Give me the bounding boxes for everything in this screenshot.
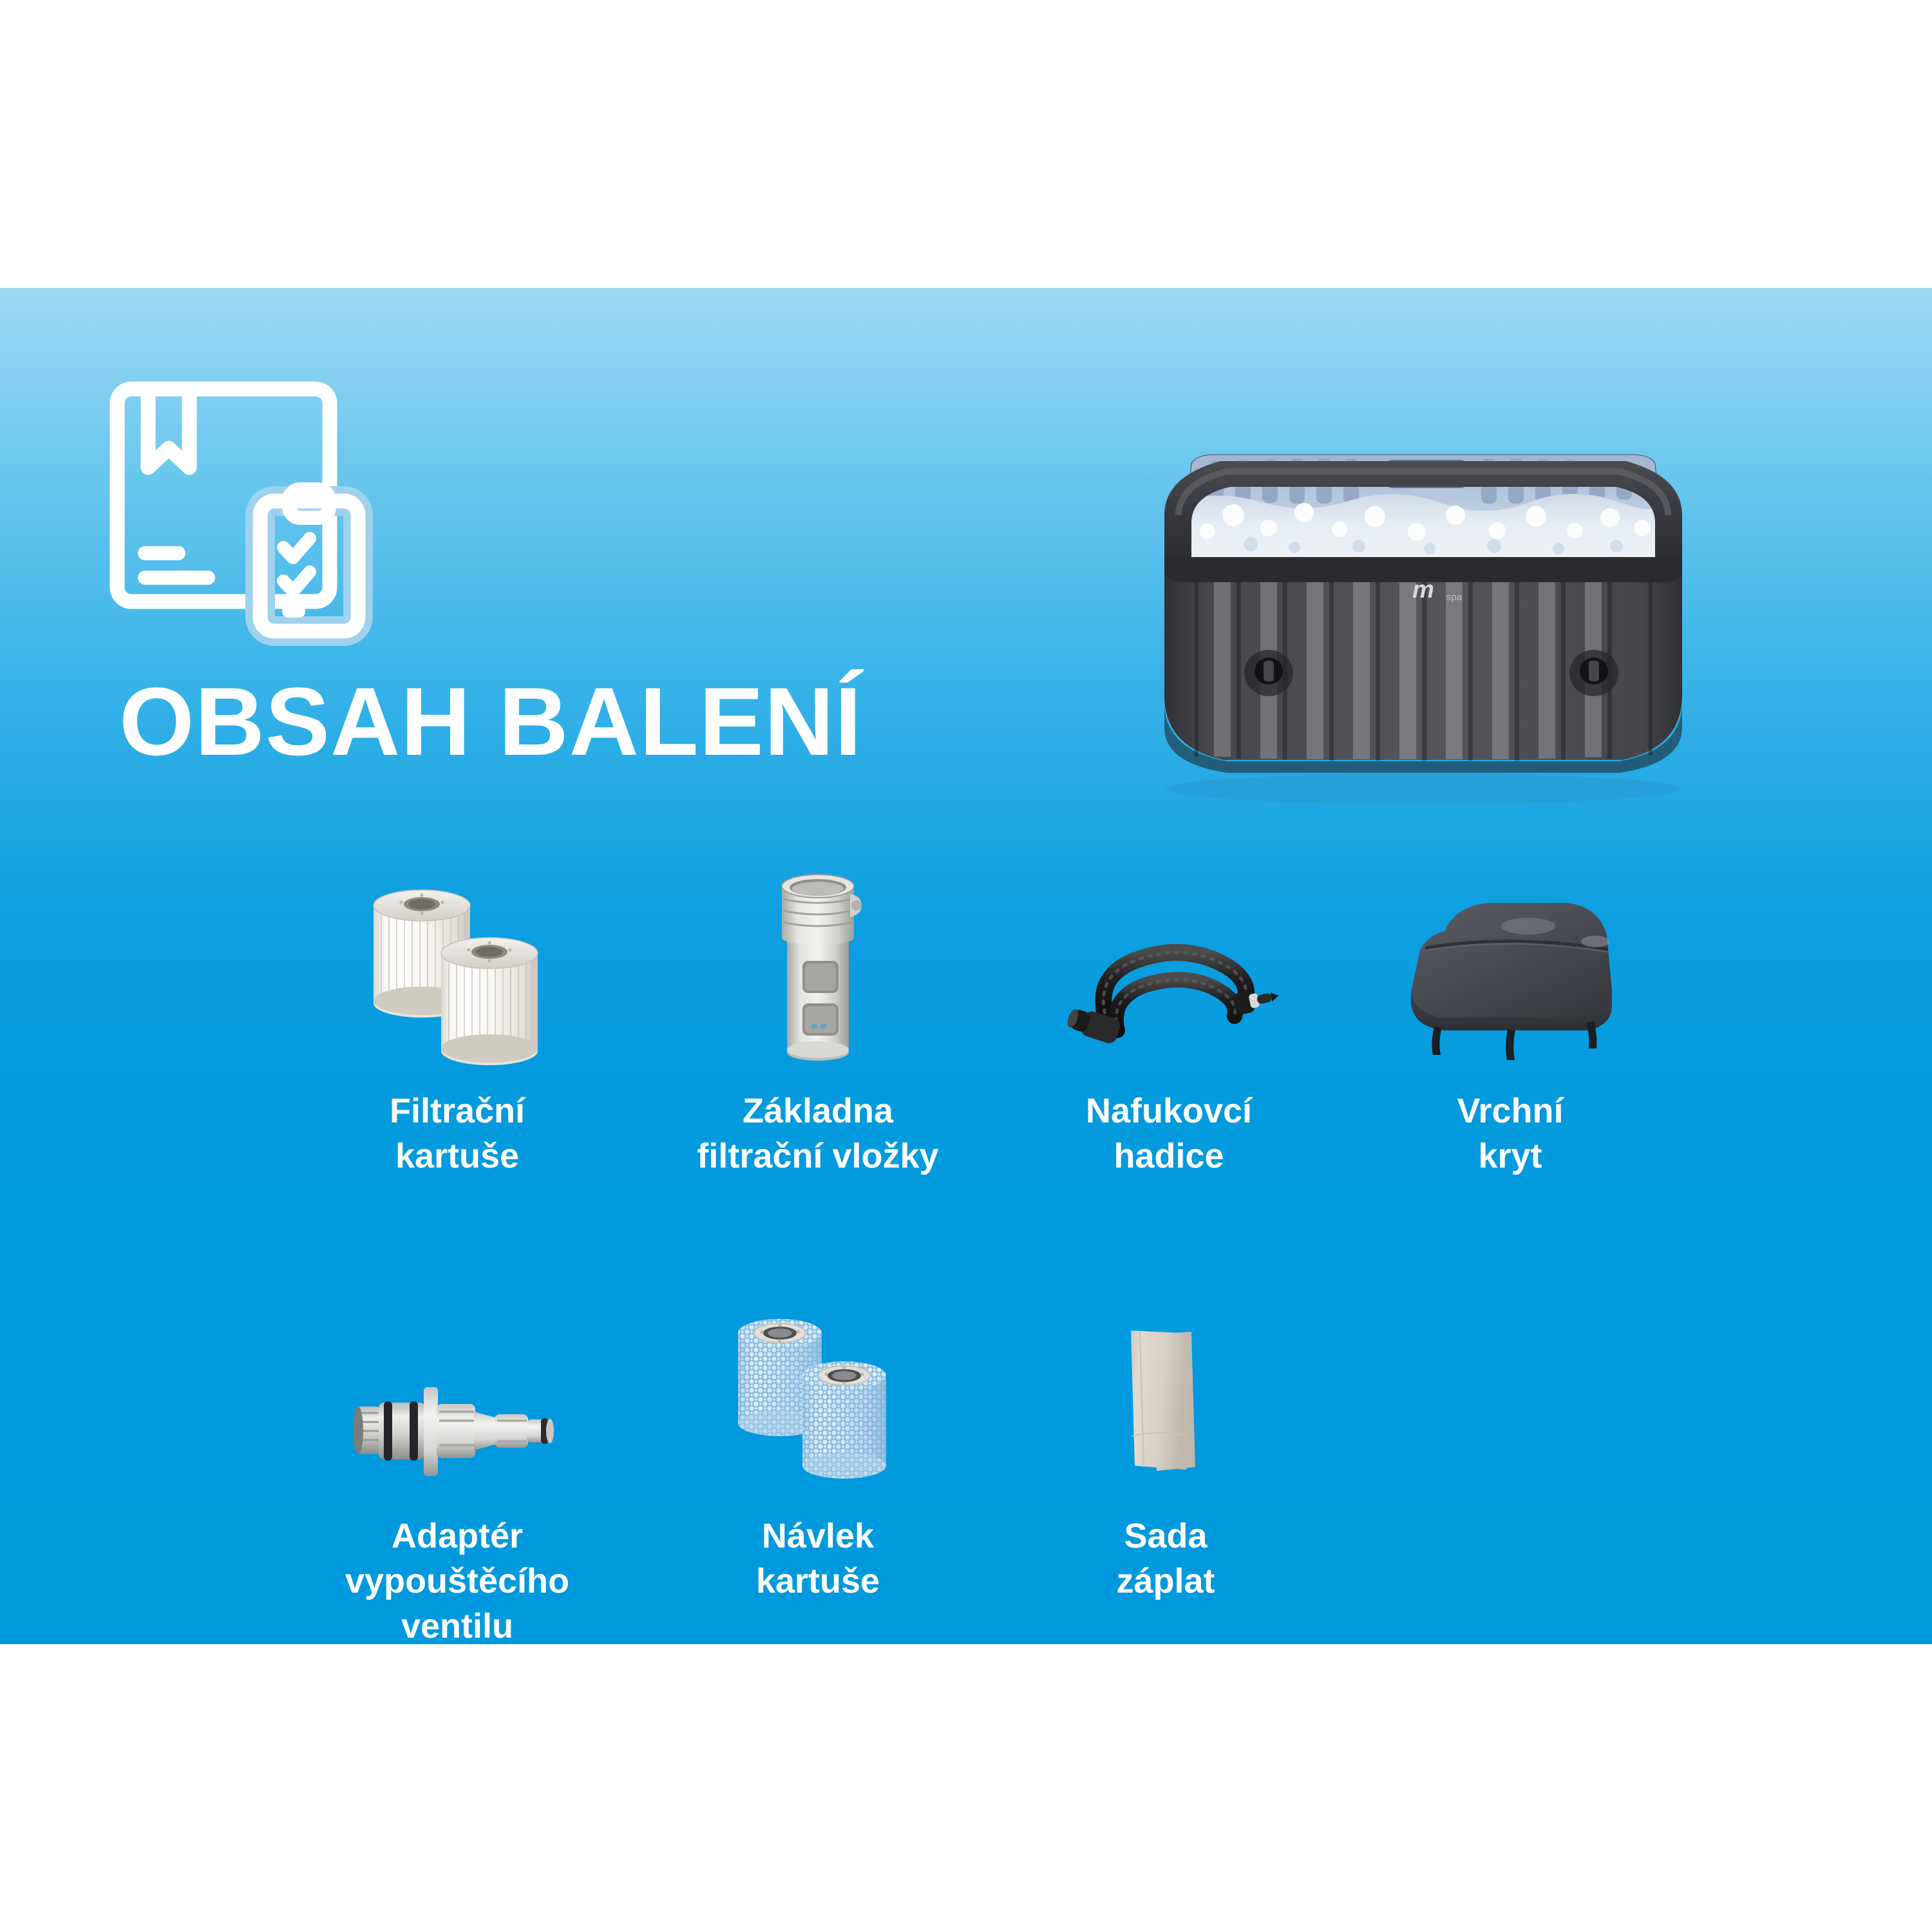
product-row-2: Adaptér vypouštěcího ventilu [277, 1262, 1333, 1649]
product-item-cartridge-sleeve: Návlek kartuše [638, 1262, 998, 1649]
product-item-drain-valve-adapter: Adaptér vypouštěcího ventilu [277, 1262, 638, 1649]
product-label: Nafukovcí hadice [998, 1088, 1340, 1179]
product-row-1: Filtrační kartuše [277, 857, 1681, 1179]
product-item-top-cover: Vrchní kryt [1340, 857, 1681, 1179]
hot-tub-product-photo: m spa [1082, 425, 1765, 811]
product-label: Základna filtrační vložky [638, 1088, 998, 1179]
product-item-filter-cartridge: Filtrační kartuše [277, 857, 638, 1179]
package-checklist-icon [108, 381, 366, 639]
inflation-hose-icon [998, 857, 1340, 1069]
filter-base-icon [638, 857, 998, 1069]
product-item-filter-base: Základna filtrační vložky [638, 857, 998, 1179]
product-label: Sada záplat [998, 1513, 1333, 1604]
filter-cartridge-icon [277, 857, 638, 1069]
product-label: Vrchní kryt [1340, 1088, 1681, 1179]
drain-valve-adapter-icon [277, 1262, 638, 1494]
patch-kit-icon [998, 1262, 1333, 1494]
top-cover-icon [1340, 857, 1681, 1069]
svg-text:spa: spa [1446, 592, 1463, 603]
product-item-inflation-hose: Nafukovcí hadice [998, 857, 1340, 1179]
product-item-patch-kit: Sada záplat [998, 1262, 1333, 1649]
cartridge-sleeve-icon [638, 1262, 998, 1494]
product-label: Adaptér vypouštěcího ventilu [277, 1513, 638, 1649]
product-label: Filtrační kartuše [277, 1088, 638, 1179]
page-title: OBSAH BALENÍ [119, 673, 862, 770]
product-label: Návlek kartuše [638, 1513, 998, 1604]
svg-text:m: m [1412, 576, 1434, 603]
